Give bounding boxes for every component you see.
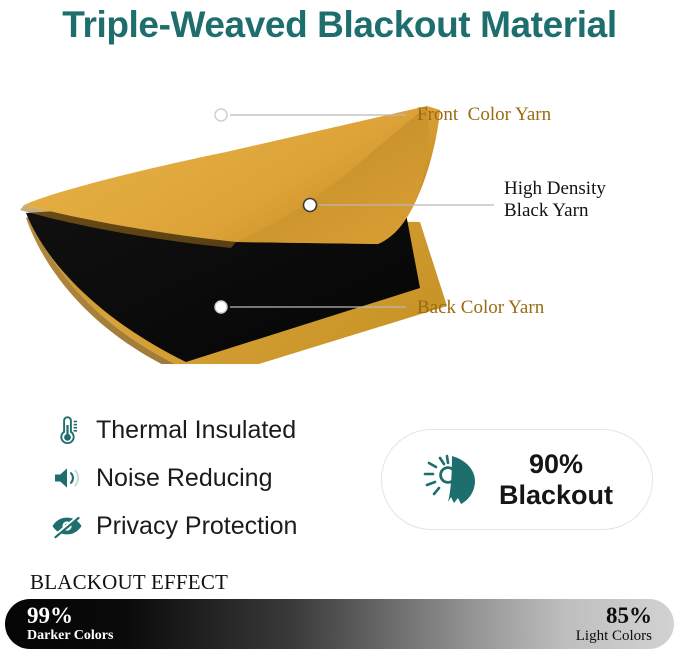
sun-curtain-icon	[421, 450, 485, 510]
blackout-badge: 90% Blackout	[381, 429, 653, 530]
bar-label-darker-colors: 99% Darker Colors	[27, 604, 113, 644]
feature-item-noise-reducing: Noise Reducing	[48, 456, 358, 500]
blackout-effect-heading: BLACKOUT EFFECT	[30, 570, 228, 595]
page-title: Triple-Weaved Blackout Material	[0, 4, 679, 46]
blackout-effect-gradient-bar: 99% Darker Colors 85% Light Colors	[5, 599, 674, 649]
feature-label: Thermal Insulated	[96, 416, 296, 445]
bar-sublabel-light: Light Colors	[576, 628, 652, 645]
callout-label-high-density-black-yarn: High Density Black Yarn	[504, 178, 606, 223]
thermometer-icon	[48, 413, 86, 447]
bar-label-light-colors: 85% Light Colors	[576, 604, 652, 645]
blackout-badge-text: 90% Blackout	[499, 449, 613, 509]
feature-item-privacy-protection: Privacy Protection	[48, 504, 358, 548]
feature-label: Noise Reducing	[96, 464, 273, 493]
feature-list: Thermal Insulated Noise Reducing Privacy…	[48, 408, 358, 552]
bar-sublabel-darker: Darker Colors	[27, 628, 113, 643]
callout-label-front-color-yarn: Front Color Yarn	[417, 104, 551, 126]
bar-percent-darker: 99%	[27, 604, 113, 628]
bar-percent-light: 85%	[576, 604, 652, 628]
eye-slash-icon	[48, 509, 86, 543]
callout-label-back-color-yarn: Back Color Yarn	[417, 297, 544, 319]
feature-item-thermal-insulated: Thermal Insulated	[48, 408, 358, 452]
speaker-icon	[48, 461, 86, 495]
feature-label: Privacy Protection	[96, 512, 297, 541]
